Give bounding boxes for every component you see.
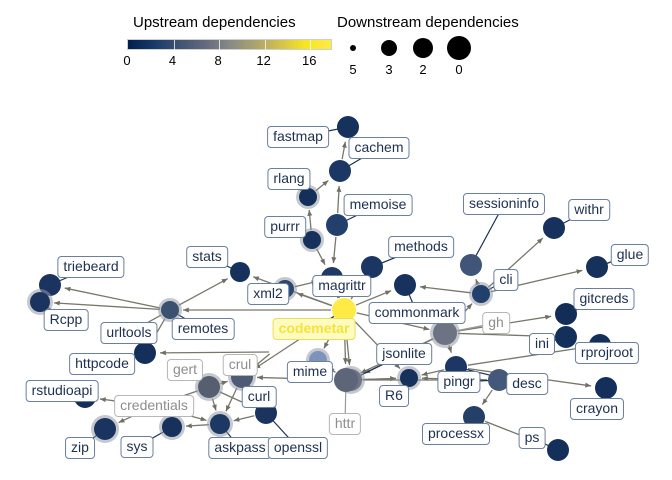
node-label-crul[interactable]: crul (223, 354, 258, 376)
node-label-gert[interactable]: gert (167, 359, 203, 381)
graph-node-sessioninfo[interactable] (460, 254, 482, 276)
node-label-jsonlite[interactable]: jsonlite (376, 343, 432, 365)
node-label-purrr[interactable]: purrr (264, 216, 306, 238)
node-label-pingr[interactable]: pingr (437, 371, 480, 393)
node-label-stats[interactable]: stats (186, 246, 228, 268)
graph-edge (316, 180, 329, 190)
graph-node-withr[interactable] (543, 217, 565, 239)
node-label-methods[interactable]: methods (388, 236, 454, 258)
node-label-mime[interactable]: mime (287, 361, 333, 383)
node-label-crayon[interactable]: crayon (570, 398, 624, 420)
node-label-sessioninfo[interactable]: sessioninfo (463, 193, 545, 215)
graph-node-rlang[interactable] (299, 188, 317, 206)
node-label-memoise[interactable]: memoise (344, 194, 413, 216)
graph-node-zip[interactable] (94, 418, 116, 440)
graph-node-httpcode[interactable] (134, 342, 156, 364)
node-label-remotes[interactable]: remotes (172, 318, 235, 340)
node-label-httr[interactable]: httr (329, 413, 361, 435)
graph-node-sys[interactable] (162, 417, 182, 437)
graph-node-stats[interactable] (230, 262, 250, 282)
node-label-rlang[interactable]: rlang (267, 168, 310, 190)
graph-edge (420, 287, 471, 293)
graph-edge (179, 279, 228, 306)
graph-edge (342, 142, 345, 159)
node-label-urltools[interactable]: urltools (100, 322, 157, 344)
node-label-credentials[interactable]: credentials (114, 395, 194, 417)
node-label-triebeard[interactable]: triebeard (57, 256, 124, 278)
graph-node-crayon[interactable] (595, 377, 617, 399)
graph-node-askpass[interactable] (210, 414, 230, 434)
node-label-codemetar[interactable]: codemetar (273, 318, 356, 340)
graph-node-glue[interactable] (586, 256, 608, 278)
node-label-magrittr[interactable]: magrittr (312, 275, 371, 297)
graph-node-cachem[interactable] (329, 160, 351, 182)
graph-edge (482, 390, 492, 405)
node-label-rstudioapi[interactable]: rstudioapi (26, 380, 99, 402)
graph-edge (468, 347, 585, 365)
node-label-fastmap[interactable]: fastmap (267, 126, 329, 148)
node-label-ini[interactable]: ini (529, 333, 555, 355)
node-label-xml2[interactable]: xml2 (247, 283, 289, 305)
graph-node-fastmap[interactable] (337, 116, 359, 138)
graph-node-ps[interactable] (547, 439, 569, 461)
node-label-ps[interactable]: ps (519, 427, 546, 449)
graph-edge (449, 345, 451, 352)
node-label-zip[interactable]: zip (65, 437, 95, 459)
node-label-commonmark[interactable]: commonmark (369, 302, 466, 324)
graph-edge (212, 399, 216, 411)
graph-node-cli[interactable] (472, 285, 490, 303)
node-label-curl[interactable]: curl (242, 386, 277, 408)
graph-edge (234, 416, 255, 421)
graph-edge (476, 279, 478, 284)
node-label-rprojroot[interactable]: rprojroot (575, 342, 639, 364)
graph-node-commonmark[interactable] (394, 274, 416, 296)
node-label-sys[interactable]: sys (121, 436, 154, 458)
network-graph: fastmapcachemrlangmemoisepurrrstatsmetho… (0, 0, 672, 480)
graph-node-memoise[interactable] (326, 214, 348, 236)
graph-node-gh[interactable] (433, 321, 457, 345)
graph-edge (317, 249, 325, 265)
node-label-R6[interactable]: R6 (379, 385, 409, 407)
graph-edge (338, 186, 340, 213)
node-label-gitcreds[interactable]: gitcreds (573, 288, 634, 310)
graph-node-ini[interactable] (555, 326, 577, 348)
node-label-glue[interactable]: glue (611, 244, 649, 266)
node-label-cachem[interactable]: cachem (348, 137, 409, 159)
graph-node-httr[interactable] (334, 368, 358, 392)
graph-node-remotes[interactable] (161, 301, 179, 319)
dependency-network-figure: Upstream dependencies Downstream depende… (0, 0, 672, 480)
node-label-openssl[interactable]: openssl (268, 437, 328, 459)
graph-edge (220, 381, 227, 383)
graph-edge (186, 425, 209, 426)
node-label-withr[interactable]: withr (568, 199, 610, 221)
graph-edge (309, 210, 311, 230)
graph-edge (333, 237, 335, 263)
node-label-processx[interactable]: processx (422, 423, 490, 445)
node-label-gh[interactable]: gh (482, 312, 510, 334)
graph-edge (160, 352, 269, 353)
node-label-cli[interactable]: cli (493, 269, 518, 291)
node-label-Rcpp[interactable]: Rcpp (44, 309, 89, 331)
node-label-askpass[interactable]: askpass (208, 437, 271, 459)
node-label-httpcode[interactable]: httpcode (69, 353, 135, 375)
node-label-desc[interactable]: desc (506, 373, 548, 395)
